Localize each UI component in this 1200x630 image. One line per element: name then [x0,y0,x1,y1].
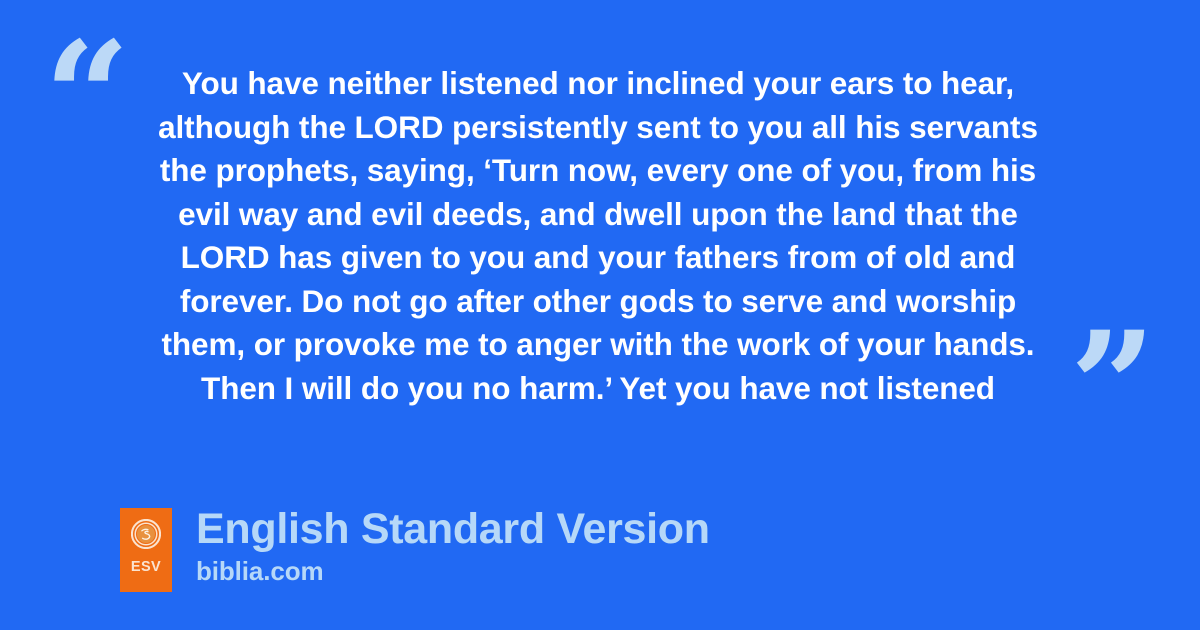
verse-image-card: “ ” You have neither listened nor inclin… [0,0,1200,630]
esv-logo: ESV [120,508,172,592]
verse-line: the prophets, saying, ‘Turn now, every o… [124,149,1072,193]
website-label: biblia.com [196,556,710,586]
bible-version-title: English Standard Version [196,504,710,554]
verse-line: Then I will do you no harm.’ Yet you hav… [124,367,1072,411]
verse-line: evil way and evil deeds, and dwell upon … [124,193,1072,237]
brand-footer: ESV English Standard Version biblia.com [120,508,710,592]
esv-abbreviation-label: ESV [131,560,161,575]
verse-text-block: You have neither listened nor inclined y… [124,62,1072,410]
esv-seal-icon [131,519,161,549]
verse-line: although the LORD persistently sent to y… [124,106,1072,150]
verse-line: LORD has given to you and your fathers f… [124,236,1072,280]
verse-line: You have neither listened nor inclined y… [124,62,1072,106]
verse-line: them, or provoke me to anger with the wo… [124,323,1072,367]
closing-quote-icon: ” [1070,312,1156,462]
verse-line: forever. Do not go after other gods to s… [124,280,1072,324]
brand-text-group: English Standard Version biblia.com [196,508,710,586]
opening-quote-icon: “ [44,22,130,172]
